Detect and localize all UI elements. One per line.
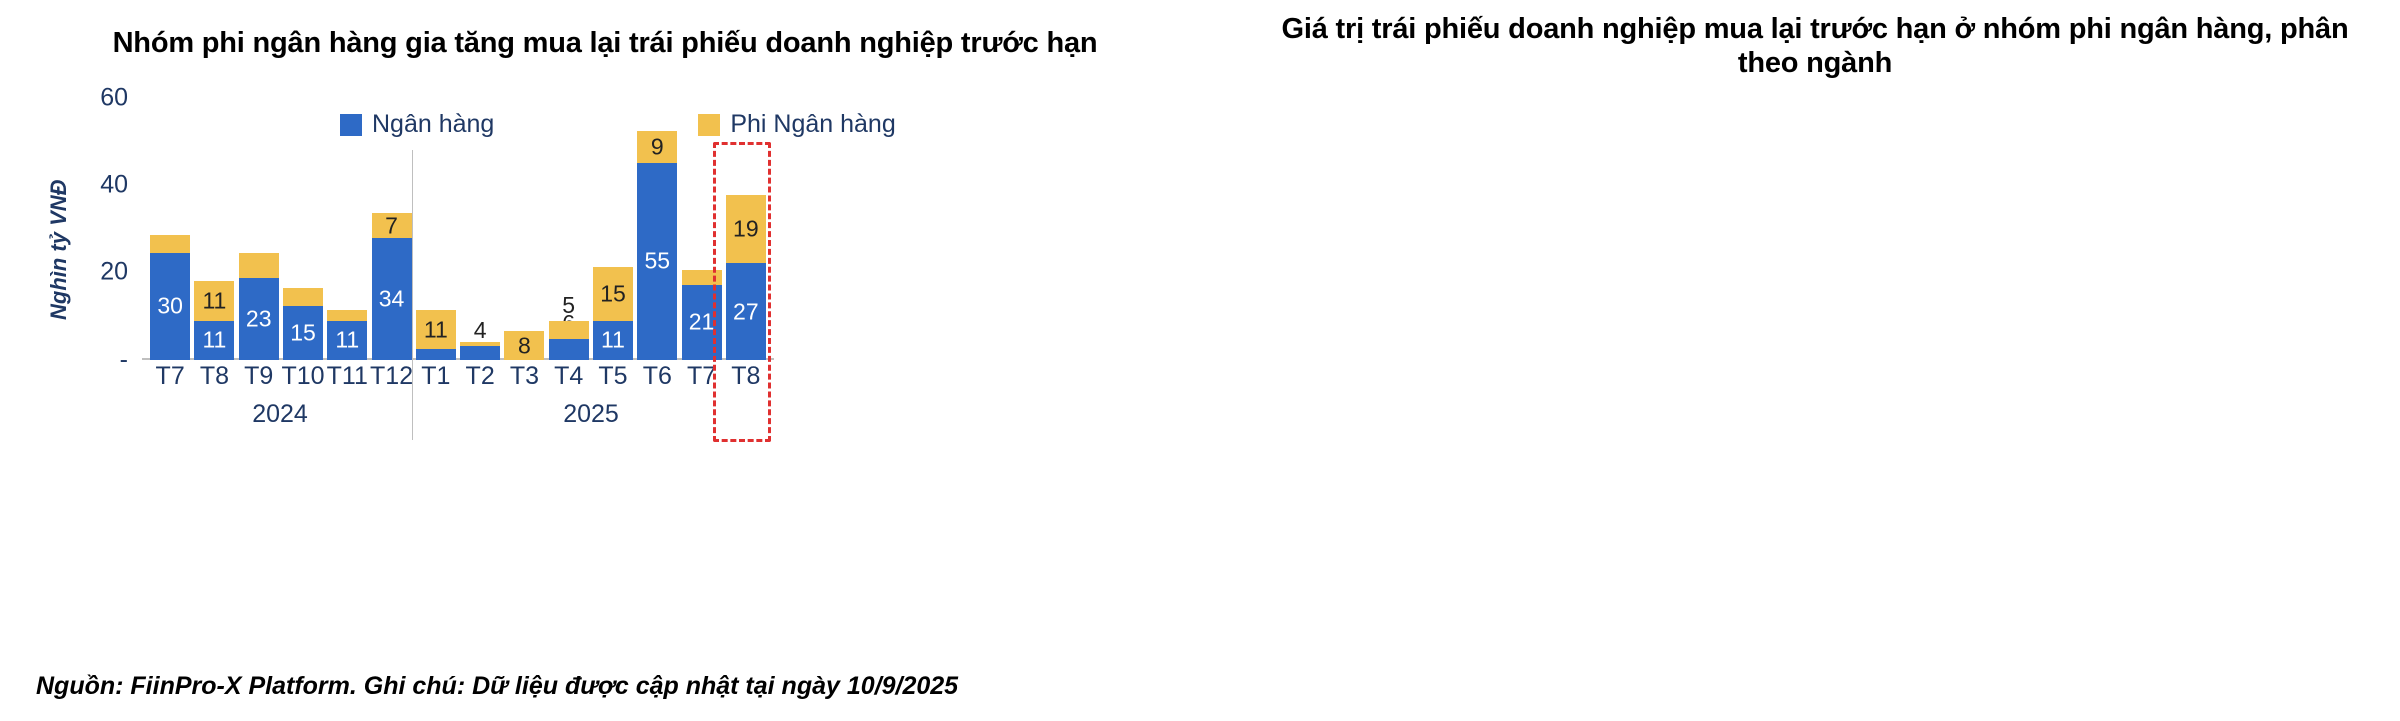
bar-segment[interactable]: 5 [549, 321, 589, 339]
left-ytick-60: 60 [58, 84, 128, 113]
right-chart-title: Giá trị trái phiếu doanh nghiệp mua lại … [1260, 12, 2370, 80]
bar-value-label: 9 [637, 135, 677, 158]
bar-value-label: 5 [549, 292, 589, 319]
left-ytick-40: 40 [58, 171, 128, 200]
bar-segment[interactable] [682, 270, 722, 284]
left-group-label-2024: 2024 [148, 400, 412, 429]
legend-item-ngan-hang[interactable]: Ngân hàng [340, 110, 494, 139]
bar-column[interactable]: 347 [372, 213, 412, 360]
bar-value-label: 55 [637, 250, 677, 273]
bar-segment[interactable] [283, 288, 323, 306]
left-ytick-0: - [58, 346, 128, 375]
bar-column[interactable]: 4 [460, 342, 500, 360]
figure-root: Nhóm phi ngân hàng gia tăng mua lại trái… [0, 0, 2400, 721]
legend-label-ngan-hang: Ngân hàng [372, 110, 494, 139]
bar-segment[interactable]: 11 [593, 321, 633, 360]
bar-segment[interactable]: 15 [593, 267, 633, 321]
bar-column[interactable]: 1111 [194, 281, 234, 360]
bar-segment[interactable]: 4 [460, 346, 500, 360]
bar-segment[interactable]: 11 [416, 310, 456, 349]
bar-column[interactable]: 2719 [726, 195, 766, 360]
bar-segment[interactable]: 19 [726, 195, 766, 263]
bar-segment[interactable]: 7 [372, 213, 412, 238]
bar-column[interactable]: 30 [150, 235, 190, 360]
bar-segment[interactable] [460, 342, 500, 346]
bar-value-label: 15 [593, 282, 633, 305]
legend-swatch-phi-ngan-hang [698, 114, 720, 136]
source-note: Nguồn: FiinPro-X Platform. Ghi chú: Dữ l… [36, 672, 958, 701]
left-ytick-20: 20 [58, 258, 128, 287]
bar-value-label: 21 [682, 311, 722, 334]
bar-value-label: 23 [239, 307, 279, 330]
bar-value-label: 11 [593, 329, 633, 352]
bar-value-label: 15 [283, 322, 323, 345]
legend-label-phi-ngan-hang: Phi Ngân hàng [730, 110, 895, 139]
bar-column[interactable]: 65 [549, 321, 589, 360]
bar-segment[interactable]: 55 [637, 163, 677, 360]
legend-item-phi-ngan-hang[interactable]: Phi Ngân hàng [698, 110, 895, 139]
bar-segment[interactable]: 11 [327, 321, 367, 360]
bar-value-label: 11 [194, 289, 234, 312]
bar-segment[interactable]: 11 [194, 321, 234, 360]
left-chart-title: Nhóm phi ngân hàng gia tăng mua lại trái… [40, 26, 1170, 60]
bar-value-label: 11 [416, 318, 456, 341]
right-chart-panel: Giá trị trái phiếu doanh nghiệp mua lại … [1200, 0, 2400, 721]
bar-segment[interactable]: 8 [504, 331, 544, 360]
bar-segment[interactable]: 6 [549, 339, 589, 361]
bar-column[interactable]: 11 [327, 310, 367, 360]
bar-value-label: 11 [194, 329, 234, 352]
left-group-label-2025: 2025 [414, 400, 768, 429]
bar-column[interactable]: 1115 [593, 267, 633, 360]
bar-segment[interactable]: 9 [637, 131, 677, 163]
left-chart-panel: Nhóm phi ngân hàng gia tăng mua lại trái… [0, 0, 1200, 721]
bar-value-label: 30 [150, 295, 190, 318]
bar-segment[interactable]: 11 [194, 281, 234, 320]
bar-value-label: 11 [327, 329, 367, 352]
x-axis-tick-t8-13: T8 [701, 362, 791, 391]
bar-segment[interactable]: 3 [416, 349, 456, 360]
bar-segment[interactable]: 30 [150, 253, 190, 361]
bar-value-label: 19 [726, 218, 766, 241]
bar-column[interactable]: 15 [283, 288, 323, 360]
bar-segment[interactable] [239, 253, 279, 278]
bar-value-label: 4 [460, 317, 500, 344]
bar-value-label: 27 [726, 300, 766, 323]
legend-swatch-ngan-hang [340, 114, 362, 136]
bar-column[interactable]: 23 [239, 253, 279, 360]
bar-column[interactable]: 21 [682, 270, 722, 360]
bar-column[interactable]: 559 [637, 131, 677, 360]
bar-segment[interactable] [150, 235, 190, 253]
bar-segment[interactable]: 34 [372, 238, 412, 360]
bar-segment[interactable] [327, 310, 367, 321]
bar-segment[interactable]: 15 [283, 306, 323, 360]
bar-value-label: 7 [372, 214, 412, 237]
bar-segment[interactable]: 21 [682, 285, 722, 360]
bar-segment[interactable]: 27 [726, 263, 766, 360]
bar-column[interactable]: 311 [416, 310, 456, 360]
left-y-axis-title: Nghìn tỷ VNĐ [46, 179, 72, 320]
left-plot-area: 30111123151134731148651115559212719 [148, 145, 768, 360]
left-bars-container: 30111123151134731148651115559212719 [148, 145, 768, 360]
bar-column[interactable]: 8 [504, 331, 544, 360]
bar-segment[interactable]: 23 [239, 278, 279, 360]
left-group-separator [412, 150, 413, 440]
bar-value-label: 8 [504, 334, 544, 357]
bar-value-label: 34 [372, 288, 412, 311]
